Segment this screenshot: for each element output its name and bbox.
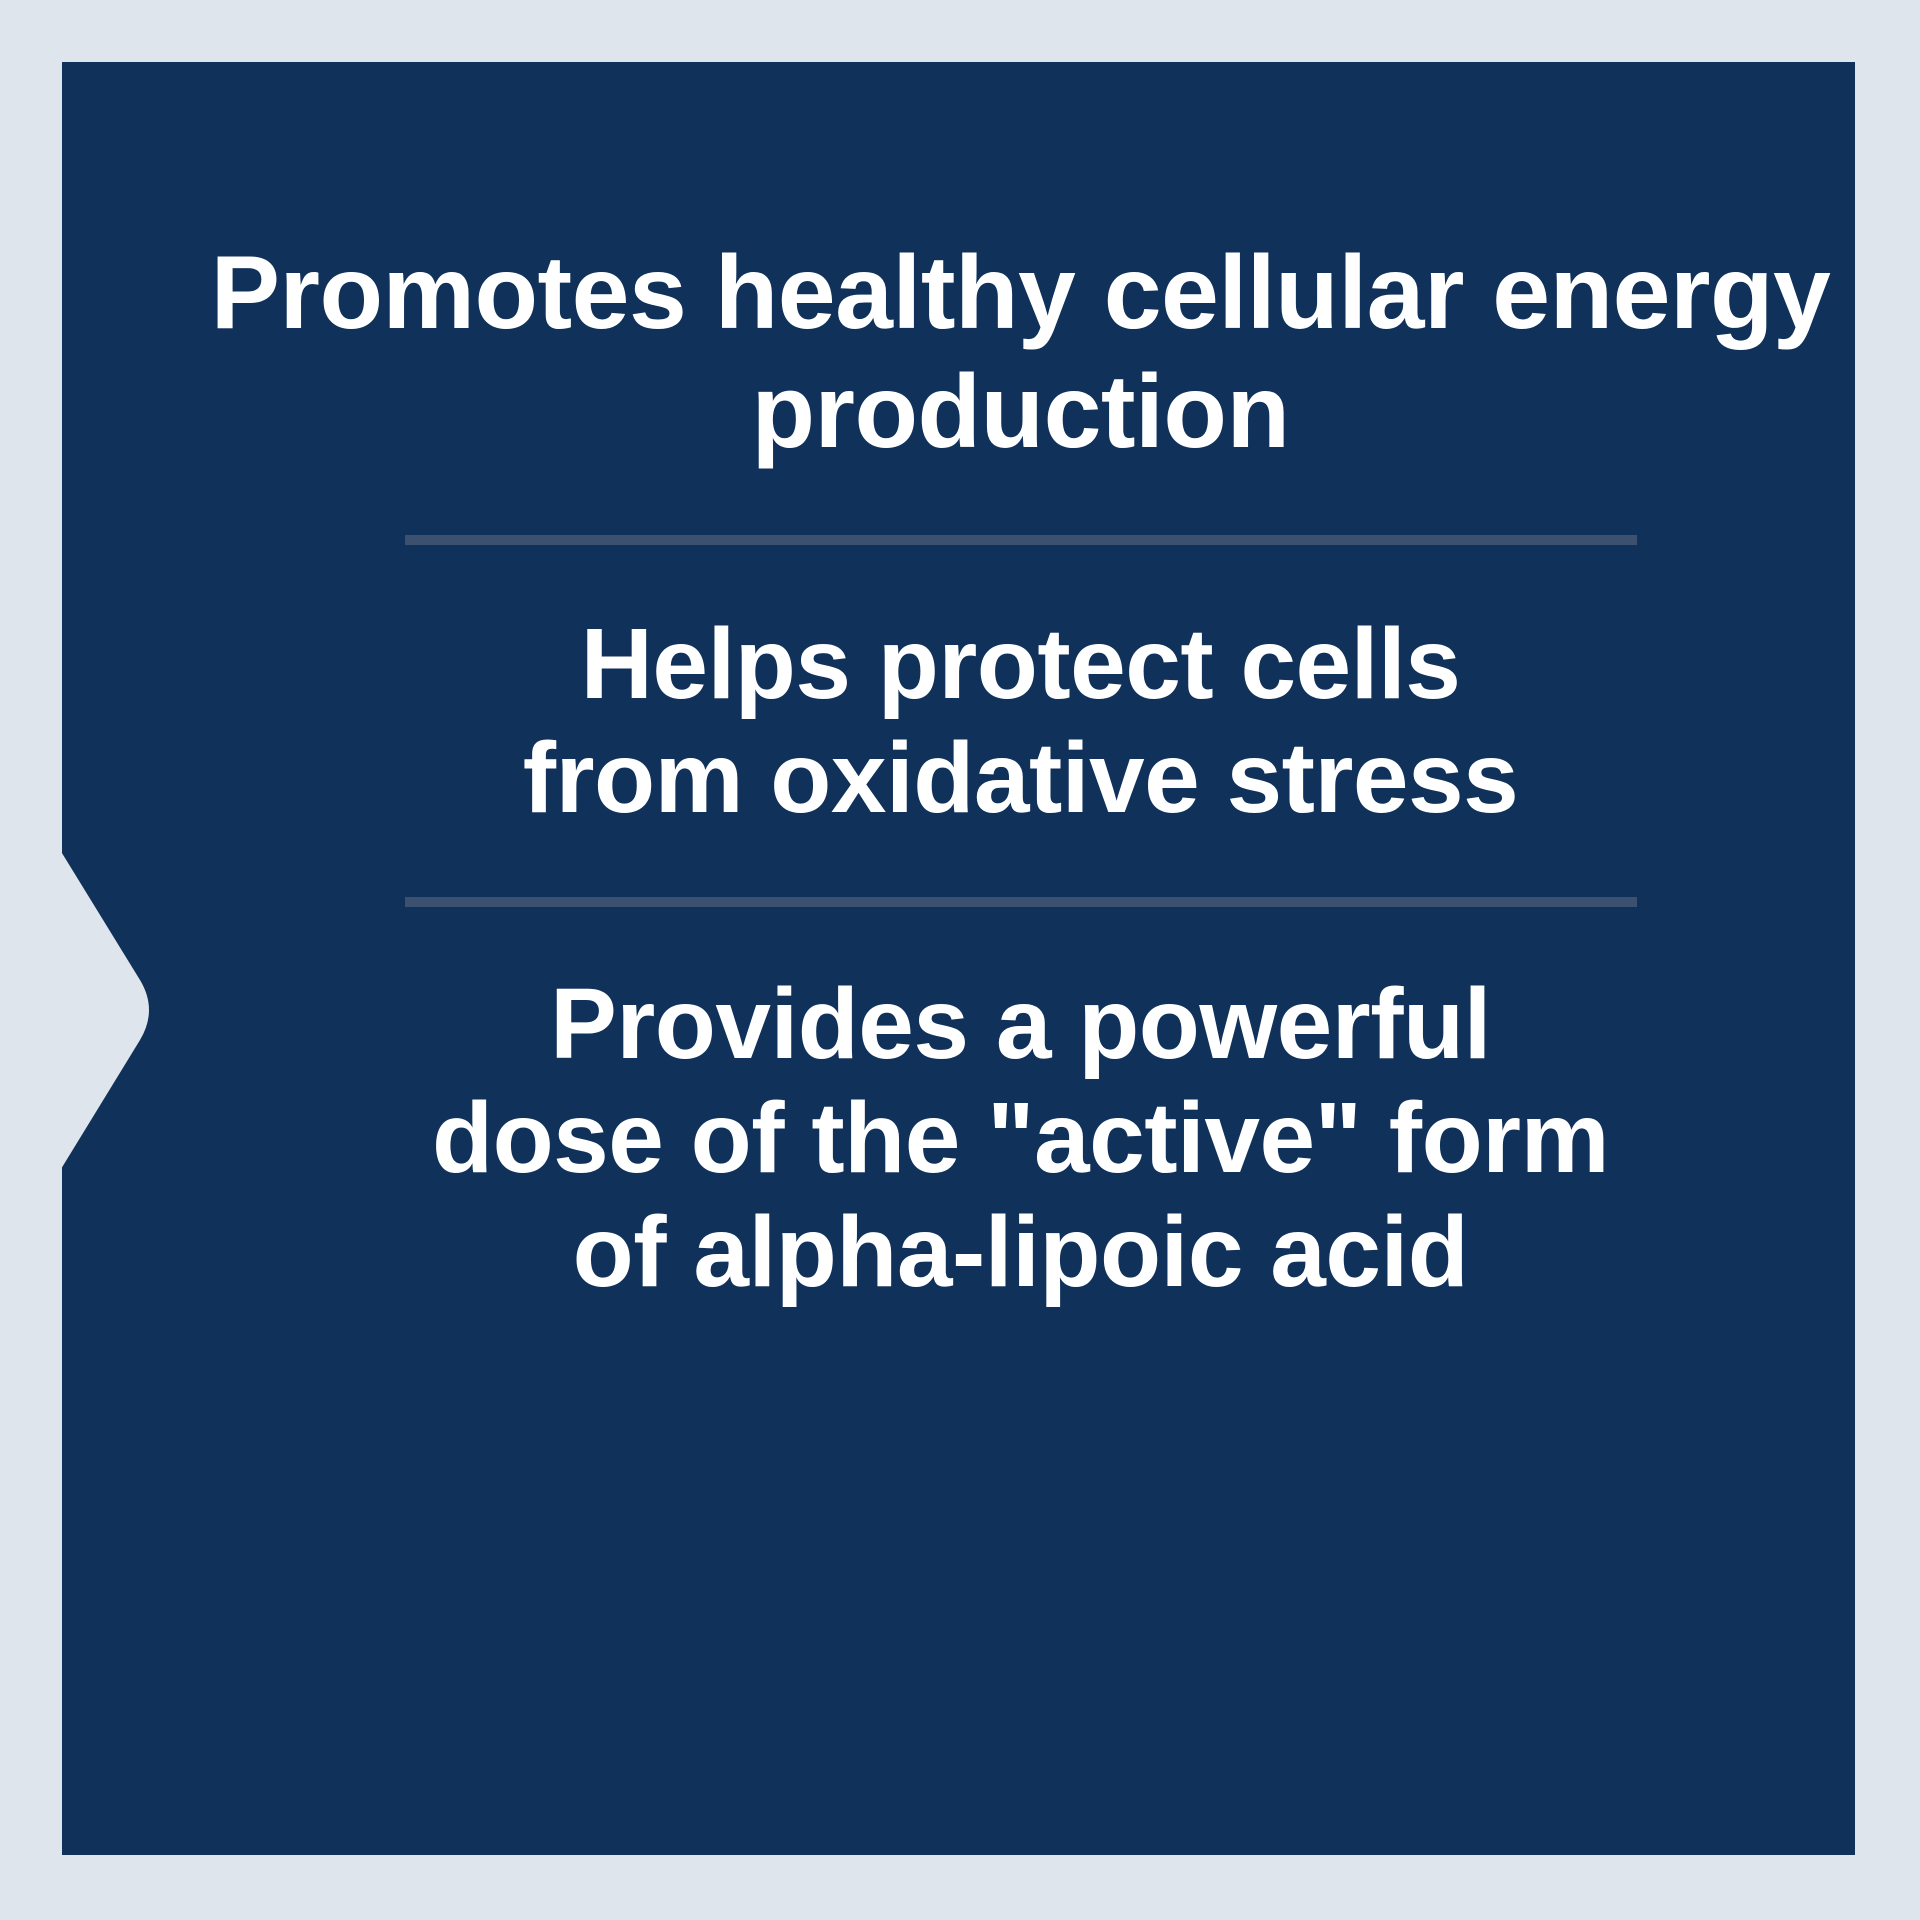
benefit-text-alpha-lipoic-acid: Provides a powerful dose of the "active"… — [124, 967, 1855, 1309]
navy-panel: Promotes healthy cellular energy product… — [62, 62, 1855, 1855]
benefit-text-cellular-energy: Promotes healthy cellular energy product… — [124, 234, 1855, 471]
benefits-content: Promotes healthy cellular energy product… — [124, 124, 1855, 1855]
benefit-text-oxidative-stress: Helps protect cells from oxidative stres… — [124, 607, 1855, 835]
benefit-divider-2 — [405, 897, 1637, 907]
benefit-card-canvas: Promotes healthy cellular energy product… — [0, 0, 1920, 1920]
benefit-divider-1 — [405, 535, 1637, 545]
